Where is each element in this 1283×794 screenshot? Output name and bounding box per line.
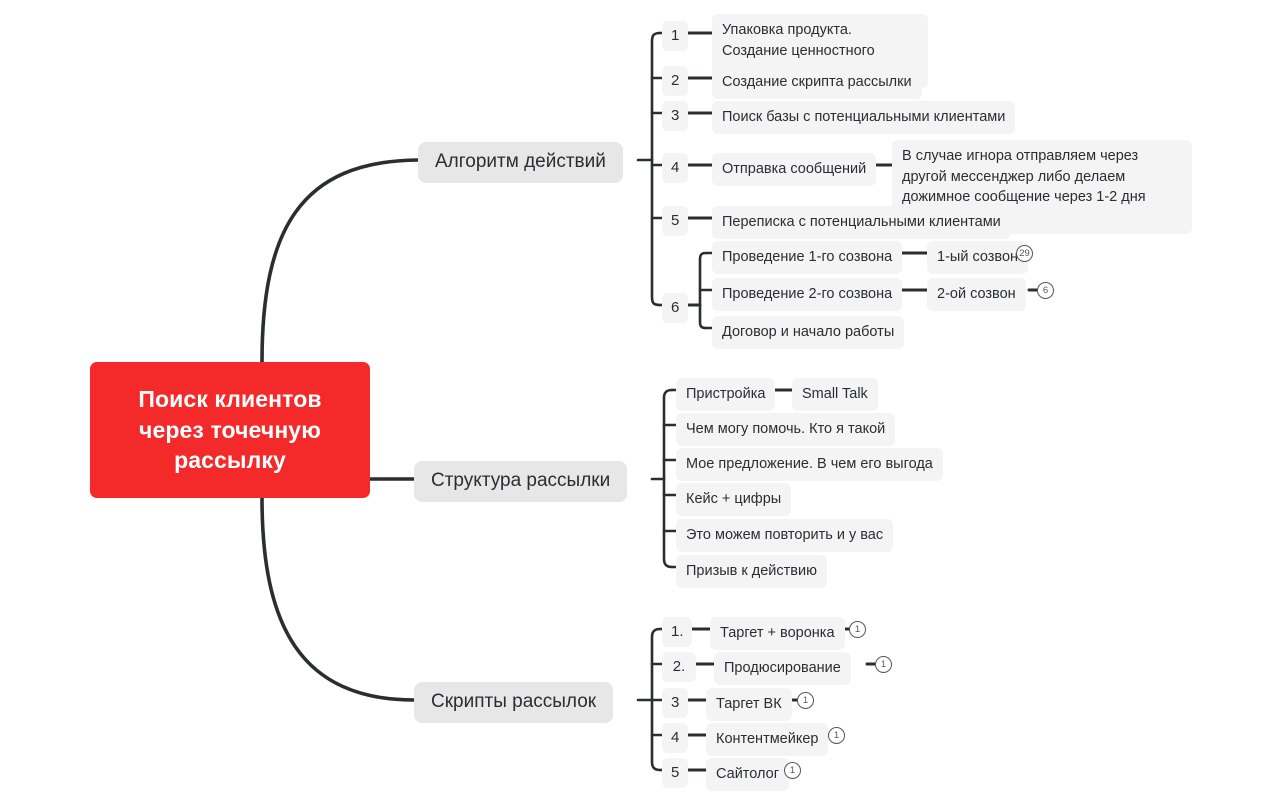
node-repeat[interactable]: Это можем повторить и у вас (676, 519, 893, 552)
node-target-funnel[interactable]: Таргет + воронка (710, 617, 845, 650)
node-target-vk[interactable]: Таргет ВК (706, 688, 792, 721)
root-title: Поиск клиентов через точечную рассылку (104, 384, 356, 476)
node-call-2[interactable]: Проведение 2-го созвона (712, 278, 902, 311)
index-chip-s2: 2. (662, 652, 696, 682)
branch-label-text: Алгоритм действий (435, 151, 606, 172)
index-chip-3: 3 (662, 101, 688, 131)
index-chip-5: 5 (662, 206, 688, 236)
branch-label-text: Скрипты рассылок (431, 691, 596, 712)
mindmap-canvas: Поиск клиентов через точечную рассылку А… (0, 0, 1283, 794)
index-chip-4: 4 (662, 153, 688, 183)
count-badge-s3[interactable]: 1 (797, 692, 814, 709)
index-chip-s1: 1. (662, 617, 692, 647)
root-node[interactable]: Поиск клиентов через точечную рассылку (90, 362, 370, 498)
node-base-search[interactable]: Поиск базы с потенциальными клиентами (712, 101, 1015, 134)
count-badge-s5[interactable]: 1 (784, 762, 801, 779)
node-pristroyka[interactable]: Пристройка (676, 378, 775, 411)
index-chip-s5: 5 (662, 758, 688, 788)
node-small-talk[interactable]: Small Talk (792, 378, 878, 411)
index-chip-2: 2 (662, 66, 688, 96)
node-producing[interactable]: Продюсирование (714, 652, 851, 685)
node-how-help[interactable]: Чем могу помочь. Кто я такой (676, 413, 895, 446)
index-chip-s3: 3 (662, 688, 688, 718)
count-badge-s1[interactable]: 1 (849, 621, 866, 638)
node-case-numbers[interactable]: Кейс + цифры (676, 483, 791, 516)
count-badge-s4[interactable]: 1 (828, 727, 845, 744)
branch-label-structure[interactable]: Структура рассылки (414, 461, 627, 502)
branch-label-algorithm[interactable]: Алгоритм действий (418, 142, 623, 183)
branch-label-scripts[interactable]: Скрипты рассылок (414, 682, 613, 723)
index-chip-s4: 4 (662, 723, 688, 753)
node-content-maker[interactable]: Контентмейкер (706, 723, 828, 756)
index-chip-6: 6 (662, 293, 688, 323)
count-badge-29[interactable]: 29 (1016, 245, 1033, 262)
node-correspondence[interactable]: Переписка с потенциальными клиентами (712, 206, 1011, 239)
node-script[interactable]: Создание скрипта рассылки (712, 66, 922, 99)
node-my-offer[interactable]: Мое предложение. В чем его выгода (676, 448, 943, 481)
node-send-messages[interactable]: Отправка сообщений (712, 153, 876, 186)
branch-label-text: Структура рассылки (431, 470, 610, 491)
count-badge-s2[interactable]: 1 (875, 656, 892, 673)
count-badge-6[interactable]: 6 (1037, 282, 1054, 299)
node-contract[interactable]: Договор и начало работы (712, 316, 904, 349)
node-call-1[interactable]: Проведение 1-го созвона (712, 241, 902, 274)
node-call-1-child[interactable]: 1-ый созвон (927, 241, 1028, 274)
node-call-2-child[interactable]: 2-ой созвон (927, 278, 1026, 311)
index-chip-1: 1 (662, 21, 688, 51)
node-cta[interactable]: Призыв к действию (676, 555, 827, 588)
node-saytolog[interactable]: Сайтолог (706, 758, 789, 791)
